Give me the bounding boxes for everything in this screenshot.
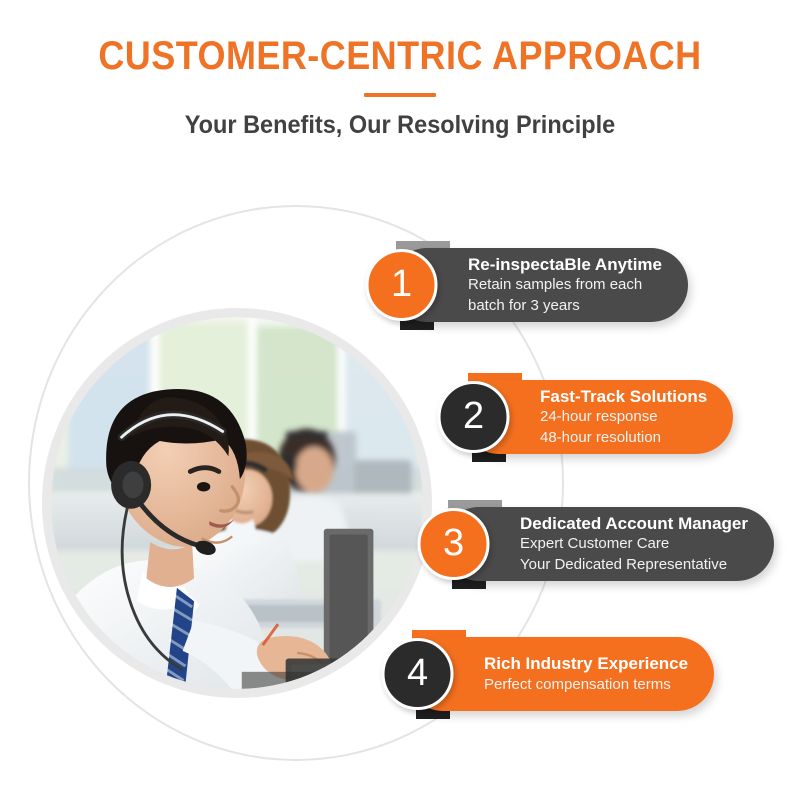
- benefit-number-4: 4: [407, 654, 428, 692]
- team-photo: [42, 308, 432, 698]
- benefit-number-2: 2: [463, 397, 484, 435]
- benefit-desc-1-line-1: Retain samples from each: [468, 276, 662, 294]
- benefit-desc-2-line-2: 48-hour resolution: [540, 429, 707, 447]
- header: CUSTOMER-CENTRIC APPROACH Your Benefits,…: [0, 34, 800, 140]
- benefit-card-1[interactable]: Re-inspectaBle Anytime Retain samples fr…: [390, 248, 688, 322]
- benefit-title-4: Rich Industry Experience: [484, 654, 688, 674]
- page-subtitle: Your Benefits, Our Resolving Principle: [24, 111, 776, 140]
- benefit-desc-3-line-1: Expert Customer Care: [520, 535, 748, 553]
- benefit-card-2[interactable]: Fast-Track Solutions 24-hour response 48…: [462, 380, 733, 454]
- benefit-number-3: 3: [443, 524, 464, 562]
- team-photo-image: [51, 317, 423, 689]
- benefit-title-1: Re-inspectaBle Anytime: [468, 255, 662, 275]
- benefit-badge-3: 3: [418, 508, 490, 580]
- benefit-badge-1: 1: [366, 249, 438, 321]
- page-title: CUSTOMER-CENTRIC APPROACH: [40, 34, 760, 79]
- benefit-card-4[interactable]: Rich Industry Experience Perfect compens…: [406, 637, 714, 711]
- benefit-pill-3: Dedicated Account Manager Expert Custome…: [442, 507, 774, 581]
- benefit-desc-3-line-2: Your Dedicated Representative: [520, 556, 748, 574]
- benefit-card-3[interactable]: Dedicated Account Manager Expert Custome…: [442, 507, 774, 581]
- benefit-desc-2-line-1: 24-hour response: [540, 408, 707, 426]
- benefit-title-3: Dedicated Account Manager: [520, 514, 748, 534]
- benefit-badge-2: 2: [438, 381, 510, 453]
- benefit-desc-4-line-1: Perfect compensation terms: [484, 676, 688, 694]
- title-divider: [364, 93, 436, 97]
- infographic-root: CUSTOMER-CENTRIC APPROACH Your Benefits,…: [0, 0, 800, 800]
- benefit-title-2: Fast-Track Solutions: [540, 387, 707, 407]
- benefit-number-1: 1: [391, 265, 412, 303]
- benefit-badge-4: 4: [382, 638, 454, 710]
- benefit-desc-1-line-2: batch for 3 years: [468, 297, 662, 315]
